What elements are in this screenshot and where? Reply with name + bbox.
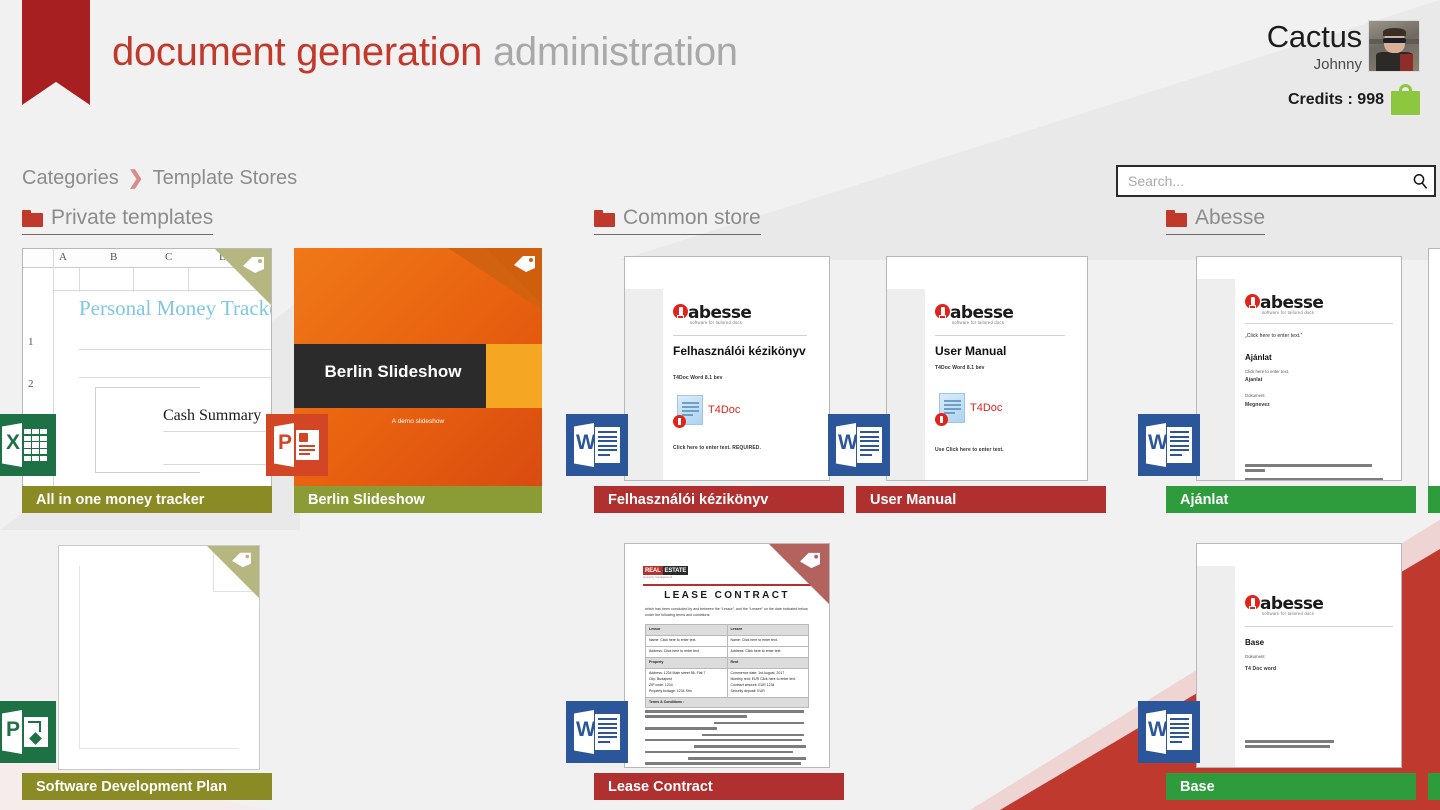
page-title-muted: administration bbox=[482, 30, 738, 74]
field2-value: Megnevez bbox=[1245, 402, 1270, 408]
xl-row-2: 2 bbox=[28, 378, 34, 390]
tile-label: Felhasználói kézikönyv bbox=[594, 486, 844, 513]
table-head-lessee: Lessee bbox=[728, 625, 809, 635]
page-title: document generation administration bbox=[112, 30, 738, 75]
folder-icon bbox=[1166, 210, 1187, 227]
contract-terms bbox=[645, 710, 809, 768]
tile-preview bbox=[22, 535, 272, 774]
tile-label: Software Development Plan bbox=[22, 773, 272, 800]
table-head-property: Property bbox=[646, 658, 728, 668]
lease-document: REALESTATE property management LEASE CON… bbox=[639, 562, 815, 761]
tile-preview: A B C D 1 bbox=[22, 248, 272, 487]
user-panel[interactable]: Cactus Johnny Credits : 998 bbox=[1120, 20, 1420, 115]
tag-icon bbox=[797, 551, 823, 571]
xl-col-c: C bbox=[165, 251, 172, 263]
cell-rent-details: Commence date: 1st August, 2017 Monthly … bbox=[728, 669, 809, 697]
doc-subtitle: T4Doc Word 8.1 bev bbox=[935, 365, 985, 371]
tile-ajanlat[interactable]: abesse software for tailored docs „Click… bbox=[1166, 248, 1416, 513]
field-value: T4 Doc word bbox=[1245, 666, 1276, 672]
tag-icon bbox=[229, 551, 255, 571]
xl-col-a: A bbox=[59, 251, 67, 263]
preview-word-page: abesse software for tailored docs „Click… bbox=[1166, 248, 1416, 487]
word-icon: W bbox=[828, 414, 890, 476]
brand-tagline: software for tailored docs bbox=[1262, 310, 1314, 315]
logo-part-b: ESTATE bbox=[663, 566, 689, 575]
folder-icon bbox=[22, 210, 43, 227]
table-row: Address: Click here to enter text. Addre… bbox=[645, 647, 809, 658]
tile-preview: REALESTATE property management LEASE CON… bbox=[594, 535, 844, 774]
powerpoint-icon: P bbox=[266, 414, 328, 476]
cell-lessor-address: Address: Click here to enter text. bbox=[646, 647, 728, 657]
excel-icon: X bbox=[0, 414, 56, 476]
doc-title: User Manual bbox=[935, 345, 1065, 359]
column-title: Private templates bbox=[51, 206, 213, 230]
word-icon: W bbox=[566, 414, 628, 476]
contract-intro: which has been concluded by and between … bbox=[645, 606, 809, 618]
tile-partial-offscreen-2[interactable] bbox=[1428, 535, 1440, 800]
doc-title: Felhasználói kézikönyv bbox=[673, 345, 807, 359]
tile-label: User Manual bbox=[856, 486, 1106, 513]
tile-label: Berlin Slideshow bbox=[294, 486, 542, 513]
column-header[interactable]: Abesse bbox=[1166, 206, 1265, 235]
column-title: Common store bbox=[623, 206, 761, 230]
tag-icon bbox=[240, 255, 266, 275]
page-title-accent: document generation bbox=[112, 30, 482, 74]
table-head-rent: Rent bbox=[728, 658, 809, 668]
table-head-terms: Terms & Conditions : bbox=[646, 698, 808, 708]
tile-user-manual[interactable]: abesse software for tailored docs User M… bbox=[856, 248, 1106, 513]
tile-label: Lease Contract bbox=[594, 773, 844, 800]
breadcrumb-item-template-stores[interactable]: Template Stores bbox=[153, 167, 298, 190]
search-input[interactable] bbox=[1118, 173, 1406, 189]
abesse-logo: abesse software for tailored docs bbox=[1245, 293, 1393, 315]
tile-label: Ajánlat bbox=[1166, 486, 1416, 513]
breadcrumb: Categories ❯ Template Stores bbox=[22, 167, 297, 190]
table-head-lessor: Lessor bbox=[646, 625, 728, 635]
tile-lease-contract[interactable]: REALESTATE property management LEASE CON… bbox=[594, 535, 844, 800]
folder-icon bbox=[594, 210, 615, 227]
tile-preview: Berlin Slideshow A demo slideshow bbox=[294, 248, 542, 487]
t4doc-label: T4Doc bbox=[708, 404, 740, 416]
field1-value: Ajanlat bbox=[1245, 377, 1262, 383]
slide-title: Berlin Slideshow bbox=[294, 362, 492, 382]
slide-subtitle: A demo slideshow bbox=[294, 418, 542, 425]
real-estate-logo: REALESTATE bbox=[643, 566, 688, 575]
doc-title: Ajánlat bbox=[1245, 353, 1272, 362]
doc-subtitle: T4Doc Word 8.1 bev bbox=[673, 375, 723, 381]
column-header[interactable]: Private templates bbox=[22, 206, 213, 235]
template-columns: Private templates A B C D bbox=[0, 206, 1440, 810]
cell-lessee-name: Name: Click here to enter text. bbox=[728, 636, 809, 646]
word-icon: W bbox=[1138, 414, 1200, 476]
preview-word-page: abesse software for tailored docs Base D… bbox=[1166, 535, 1416, 774]
doc-quote: „Click here to enter text.” bbox=[1245, 333, 1302, 339]
abesse-logo: abesse software for tailored docs bbox=[673, 303, 817, 325]
tile-software-development-plan[interactable]: P Software Development Plan bbox=[22, 535, 272, 800]
brand-tagline: software for tailored docs bbox=[1262, 611, 1314, 616]
logo-part-a: REAL bbox=[643, 566, 663, 575]
tile-preview: abesse software for tailored docs Base D… bbox=[1166, 535, 1416, 774]
column-header[interactable]: Common store bbox=[594, 206, 761, 235]
breadcrumb-item-categories[interactable]: Categories bbox=[22, 167, 119, 190]
tile-base[interactable]: abesse software for tailored docs Base D… bbox=[1166, 535, 1416, 800]
brand-tagline: software for tailored docs bbox=[690, 320, 742, 325]
brand-tagline: software for tailored docs bbox=[952, 320, 1004, 325]
page-root: document generation administration Cactu… bbox=[0, 0, 1440, 810]
preview-berlin-slide: Berlin Slideshow A demo slideshow bbox=[294, 248, 542, 487]
tile-label: Base bbox=[1166, 773, 1416, 800]
app-header: document generation administration Cactu… bbox=[0, 0, 1440, 140]
tile-preview bbox=[1428, 248, 1440, 487]
logo-subtitle: property management bbox=[643, 575, 672, 579]
cell-lessor-name: Name: Click here to enter text. bbox=[646, 636, 728, 646]
tile-preview: abesse software for tailored docs User M… bbox=[856, 248, 1106, 487]
search-icon[interactable] bbox=[1406, 167, 1434, 195]
preview-blank-page bbox=[22, 535, 272, 774]
abesse-logo: abesse software for tailored docs bbox=[935, 303, 1075, 325]
abesse-logo: abesse software for tailored docs bbox=[1245, 594, 1393, 616]
table-row: Name: Click here to enter text. Name: Cl… bbox=[645, 636, 809, 647]
field2-label: Dokument bbox=[1245, 393, 1265, 399]
field-label: Dokument bbox=[1245, 654, 1265, 660]
table-row: Address: 1234 Main street 56, Flat 7 Cit… bbox=[645, 669, 809, 698]
preview-word-page: abesse software for tailored docs User M… bbox=[856, 248, 1106, 487]
user-display-name: Cactus bbox=[1267, 21, 1362, 52]
word-icon: W bbox=[566, 701, 628, 763]
preview-excel-sheet: A B C D 1 bbox=[23, 249, 271, 486]
xl-row-1: 1 bbox=[28, 336, 34, 348]
chevron-right-icon: ❯ bbox=[128, 167, 144, 190]
preview-word-page: abesse software for tailored docs Felhas… bbox=[594, 248, 844, 487]
column-private-templates: Private templates A B C D bbox=[22, 206, 582, 248]
tile-partial-offscreen[interactable] bbox=[1428, 248, 1440, 513]
project-icon: P bbox=[0, 701, 56, 763]
t4doc-graphic: T4Doc bbox=[939, 393, 1002, 423]
shopping-bag-icon[interactable] bbox=[1391, 84, 1420, 115]
tile-label bbox=[1428, 773, 1440, 800]
xl-sheet-title: Personal Money Tracker bbox=[79, 296, 272, 321]
preview-lease-contract: REALESTATE property management LEASE CON… bbox=[594, 535, 844, 774]
doc-footer: Use Click here to enter text. bbox=[935, 447, 1004, 453]
search-box[interactable] bbox=[1116, 165, 1436, 197]
cell-property-details: Address: 1234 Main street 56, Flat 7 Cit… bbox=[646, 669, 728, 697]
tile-berlin-slideshow[interactable]: Berlin Slideshow A demo slideshow P bbox=[294, 248, 542, 513]
tile-preview: abesse software for tailored docs Felhas… bbox=[594, 248, 844, 487]
tag-icon bbox=[511, 254, 537, 274]
column-common-store: Common store abesse bbox=[594, 206, 1124, 248]
xl-col-b: B bbox=[110, 251, 117, 263]
credits-row[interactable]: Credits : 998 bbox=[1120, 84, 1420, 115]
t4doc-graphic: T4Doc bbox=[677, 395, 740, 425]
t4doc-label: T4Doc bbox=[970, 402, 1002, 414]
tile-preview: abesse software for tailored docs „Click… bbox=[1166, 248, 1416, 487]
field1-label: Click here to enter text. bbox=[1245, 369, 1289, 375]
tile-all-in-one-money-tracker[interactable]: A B C D 1 bbox=[22, 248, 272, 513]
tile-label bbox=[1428, 486, 1440, 513]
contract-title: LEASE CONTRACT bbox=[639, 590, 815, 601]
tile-felhasznaloi-kezikonyv[interactable]: abesse software for tailored docs Felhas… bbox=[594, 248, 844, 513]
user-subname: Johnny bbox=[1267, 57, 1362, 72]
doc-title: Base bbox=[1245, 638, 1264, 647]
column-title: Abesse bbox=[1195, 206, 1265, 230]
contract-table: Lessor Lessee Name: Click here to enter … bbox=[645, 624, 809, 708]
column-abesse: Abesse abesse bbox=[1166, 206, 1440, 248]
avatar[interactable] bbox=[1368, 20, 1420, 72]
brand-ribbon bbox=[22, 0, 90, 105]
xl-section-title: Cash Summary bbox=[163, 407, 261, 425]
doc-footer: Click here to enter text. REQUIRED. bbox=[673, 445, 761, 451]
cell-lessee-address: Address: Click here to enter text. bbox=[728, 647, 809, 657]
tile-label: All in one money tracker bbox=[22, 486, 272, 513]
word-icon: W bbox=[1138, 701, 1200, 763]
credits-label: Credits : 998 bbox=[1288, 91, 1384, 109]
